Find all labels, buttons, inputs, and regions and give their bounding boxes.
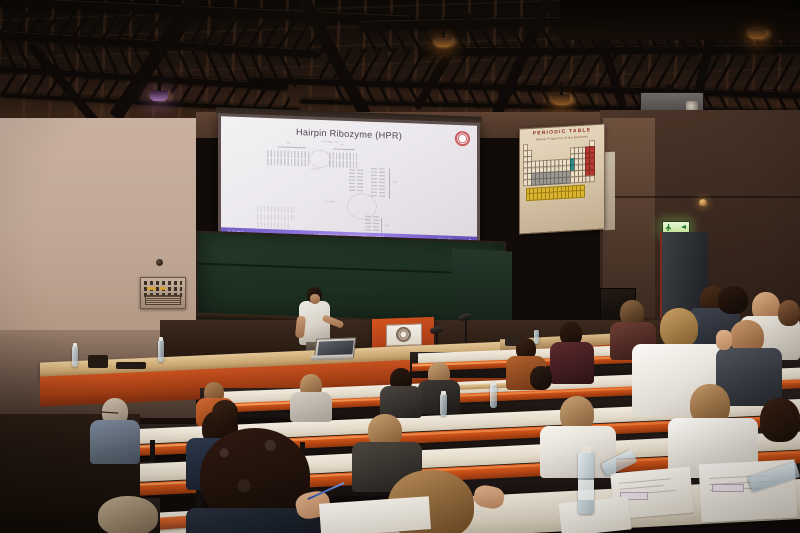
university-seal-icon <box>396 327 411 342</box>
base-pairs <box>371 168 377 198</box>
diagram-label-h1: H1 <box>287 142 291 145</box>
bottle-cap <box>159 337 163 341</box>
periodic-table-poster: PERIODIC TABLE Atomic Properties of the … <box>519 123 605 234</box>
notebook <box>319 496 431 533</box>
handout-label <box>712 484 744 492</box>
control-panel-vent <box>145 295 181 305</box>
bottle-cap <box>491 381 496 385</box>
helix-bar <box>333 148 355 150</box>
periodic-table-grid <box>523 140 601 230</box>
diagram-label-h4: H4 <box>385 224 389 227</box>
spotlight-rod <box>442 24 445 37</box>
audience-head <box>530 366 552 390</box>
water-bottle <box>490 384 497 408</box>
presentation-slide: Hairpin Ribozyme (HPR) cleavage site H1 … <box>221 116 477 247</box>
bottle-label <box>578 480 594 500</box>
motion-sensor <box>156 259 163 266</box>
spotlight-rod <box>560 82 563 95</box>
exit-arrow-icon <box>681 225 686 229</box>
base-pairs <box>329 160 357 168</box>
periodic-element-cell <box>589 175 594 183</box>
audience-head <box>760 398 800 442</box>
sequence-block <box>257 206 295 213</box>
sequence-block <box>257 222 291 229</box>
ceiling-spotlight <box>748 28 766 39</box>
audience-hand <box>716 330 732 350</box>
ceiling-spotlight <box>434 36 452 47</box>
water-bottle <box>72 346 78 367</box>
wall-lamp <box>699 199 707 206</box>
sequence-block <box>257 214 295 221</box>
water-bottle <box>534 330 539 344</box>
audience-head <box>718 286 748 314</box>
bottle-cap <box>441 391 446 395</box>
handout-paper <box>558 496 631 533</box>
presenter-face <box>310 294 320 304</box>
wall-seam <box>600 196 800 198</box>
control-indicator <box>147 287 156 290</box>
junction-strand <box>357 169 363 193</box>
loop-a <box>309 150 331 169</box>
spotlight-rod <box>158 78 161 91</box>
chalkboard-right-panel <box>452 248 512 321</box>
ceiling-spotlight <box>552 94 570 105</box>
helix-bar <box>278 146 306 148</box>
helix-bar <box>389 168 390 198</box>
paper-text-line <box>619 478 671 484</box>
junction-strand <box>349 169 355 193</box>
audience-torso <box>90 420 140 464</box>
diagram-label-cleavage: cleavage site <box>321 140 339 144</box>
audience-head <box>660 308 698 348</box>
wall-control-panel[interactable] <box>140 277 186 309</box>
base-pairs <box>329 152 357 160</box>
base-pairs <box>379 168 385 198</box>
base-pairs <box>267 158 309 167</box>
control-indicator <box>160 287 166 290</box>
projection-screen: Hairpin Ribozyme (HPR) cleavage site H1 … <box>218 113 480 251</box>
diagram-label-h2: H2 <box>340 144 344 147</box>
ceiling-spotlight <box>150 90 168 101</box>
water-bottle <box>440 394 447 416</box>
water-bottle <box>158 340 164 362</box>
diagram-label-loop-a: Loop A <box>311 168 320 171</box>
bottle-cap <box>581 446 591 453</box>
diagram-label-h3: H3 <box>393 181 397 184</box>
audience-torso <box>550 342 594 384</box>
periodic-element-cell <box>580 190 585 198</box>
cable-bundle <box>116 362 146 369</box>
audience-torso <box>290 392 332 422</box>
control-switch-row[interactable] <box>144 281 182 285</box>
equipment-case <box>88 355 108 368</box>
running-man-icon <box>666 224 671 231</box>
audience-head <box>212 400 238 426</box>
audience-head <box>778 300 800 326</box>
paper-text-line <box>620 485 664 490</box>
lecture-hall-photo: Hairpin Ribozyme (HPR) cleavage site H1 … <box>0 0 800 533</box>
diagram-label-loop-b: Loop B <box>325 200 334 203</box>
bottle-cap <box>73 343 77 347</box>
audience-torso <box>418 380 460 414</box>
audience-head <box>98 496 158 533</box>
